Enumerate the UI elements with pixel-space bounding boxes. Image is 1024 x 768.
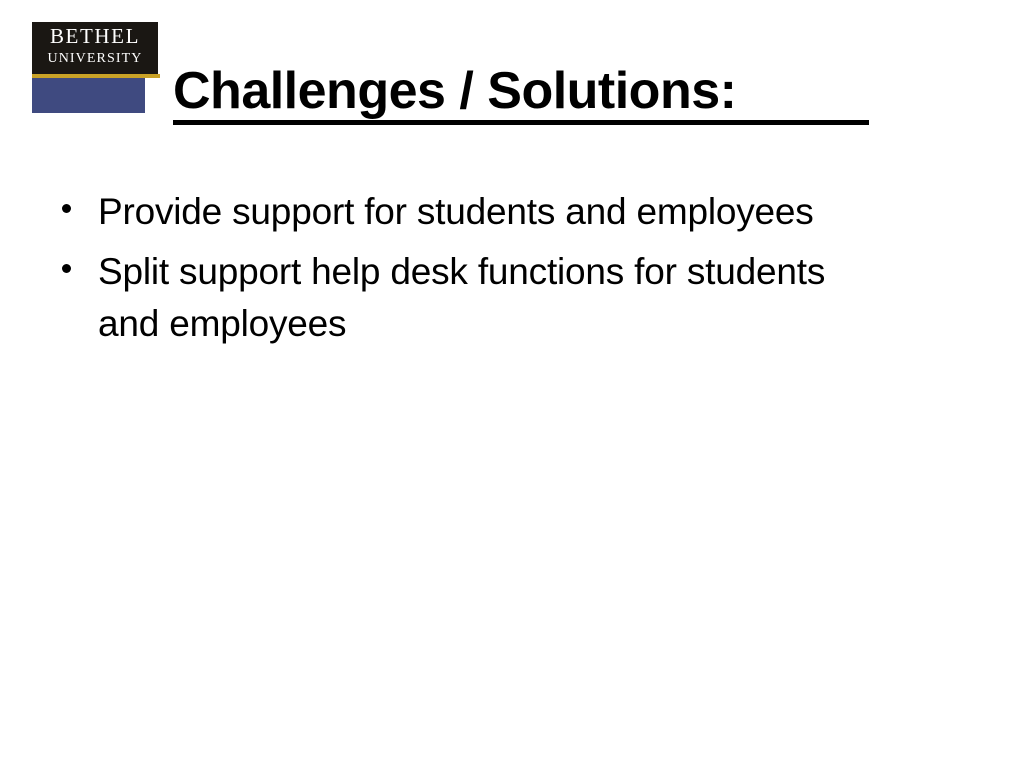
logo-black-block: BETHEL UNIVERSITY [32, 22, 158, 74]
presentation-slide: BETHEL UNIVERSITY Challenges / Solutions… [0, 0, 1024, 768]
slide-title: Challenges / Solutions: [173, 62, 736, 120]
bullet-dot-icon [62, 264, 71, 273]
bullet-list-item: Split support help desk functions for st… [58, 246, 958, 350]
logo-wordmark-bethel: BETHEL [32, 26, 158, 47]
bullet-list-item: Provide support for students and employe… [58, 186, 958, 238]
logo-wordmark-university: UNIVERSITY [32, 51, 158, 66]
slide-body-content: Provide support for students and employe… [58, 186, 958, 350]
logo-blue-block [32, 78, 145, 113]
slide-title-underline [173, 120, 869, 125]
bethel-university-logo: BETHEL UNIVERSITY [32, 22, 158, 118]
bullet-item-text: Provide support for students and employe… [98, 186, 858, 238]
bullet-dot-icon [62, 204, 71, 213]
bullet-item-text: Split support help desk functions for st… [98, 246, 858, 350]
